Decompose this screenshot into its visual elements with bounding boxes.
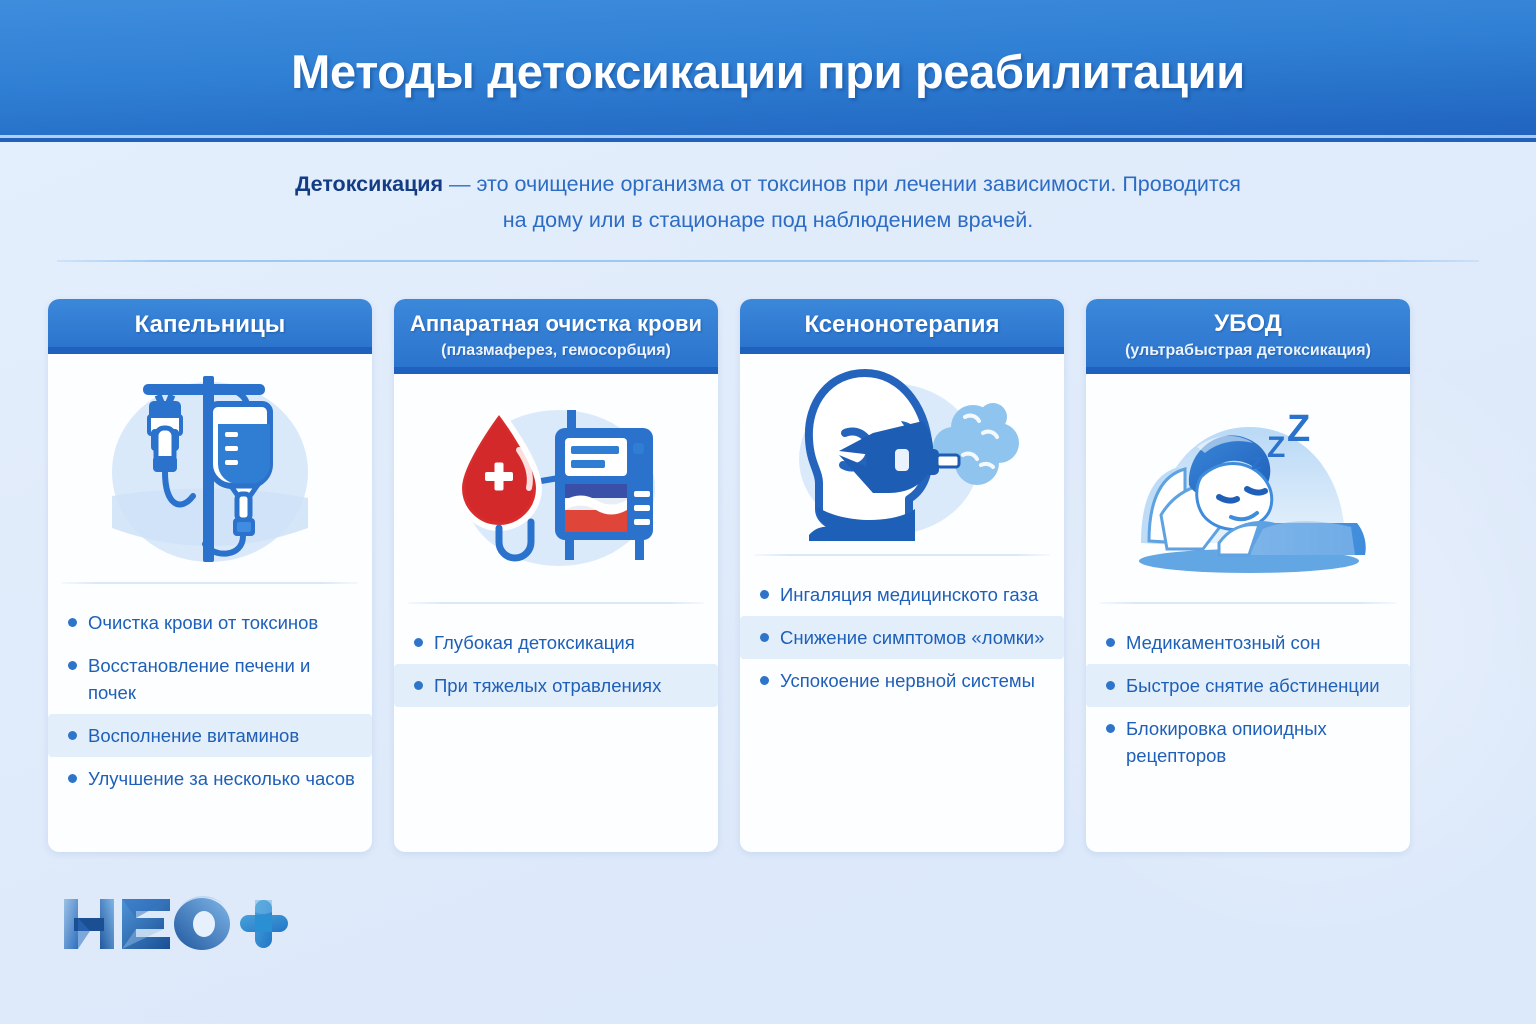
bullet-dot-icon: [68, 661, 77, 670]
section-divider: [57, 260, 1479, 262]
card-xenon-therapy[interactable]: Ксенонотерапия: [740, 299, 1064, 852]
card-header: УБОД (ультрабыстрая детоксикация): [1086, 299, 1410, 374]
card-header: Аппаратная очистка крови (плазмаферез, г…: [394, 299, 718, 374]
iv-drip-icon: [85, 368, 335, 568]
bullet-dot-icon: [760, 633, 769, 642]
bullet-dot-icon: [1106, 681, 1115, 690]
list-item-highlighted: При тяжелых отравлениях: [394, 664, 718, 707]
card-ubod-ultrarapid-detox[interactable]: УБОД (ультрабыстрая детоксикация): [1086, 299, 1410, 852]
list-item: Очистка крови от токсинов: [48, 601, 372, 644]
list-item-label: Успокоение нервной системы: [780, 667, 1050, 694]
list-item-label: Улучшение за несколько часов: [88, 765, 358, 792]
intro-text-line1: — это очищение организма от токсинов при…: [443, 172, 1241, 196]
page-header-banner: Методы детоксикации при реабилитации: [0, 0, 1536, 142]
card-title: Аппаратная очистка крови: [404, 309, 708, 339]
list-item: Медикаментозный сон: [1086, 621, 1410, 664]
card-benefit-list: Глубокая детоксикация При тяжелых отравл…: [394, 604, 718, 852]
list-item-label: Восстановление печени и почек: [88, 652, 358, 706]
list-item-label: Очистка крови от токсинов: [88, 609, 358, 636]
card-header: Капельницы: [48, 299, 372, 354]
svg-text:Z: Z: [1287, 408, 1310, 450]
list-item-highlighted: Восполнение витаминов: [48, 714, 372, 757]
card-icon-area: [48, 354, 372, 582]
logo-letter-n: [64, 899, 114, 949]
list-item-label: Ингаляция медицинското газа: [780, 581, 1050, 608]
list-item-highlighted: Снижение симптомов «ломки»: [740, 616, 1064, 659]
card-title: Капельницы: [58, 310, 362, 340]
bullet-dot-icon: [414, 681, 423, 690]
list-item: Восстановление печени и почек: [48, 644, 372, 714]
card-icon-area: z Z Z: [1086, 374, 1410, 602]
list-item-highlighted: Быстрое снятие абстиненции: [1086, 664, 1410, 707]
method-cards-row: Капельницы: [48, 299, 1488, 852]
bullet-dot-icon: [1106, 724, 1115, 733]
intro-lead-word: Детоксикация: [295, 172, 443, 196]
bullet-dot-icon: [760, 590, 769, 599]
sleeping-patient-icon: z Z Z: [1123, 393, 1373, 583]
list-item: Успокоение нервной системы: [740, 659, 1064, 702]
bullet-dot-icon: [760, 676, 769, 685]
brand-logo: [60, 893, 290, 955]
card-benefit-list: Ингаляция медицинското газа Снижение сим…: [740, 556, 1064, 852]
list-item-label: Глубокая детоксикация: [434, 629, 704, 656]
list-item-label: Быстрое снятие абстиненции: [1126, 672, 1396, 699]
card-hardware-blood-purification[interactable]: Аппаратная очистка крови (плазмаферез, г…: [394, 299, 718, 852]
card-benefit-list: Медикаментозный сон Быстрое снятие абсти…: [1086, 604, 1410, 852]
card-subtitle: (ультрабыстрая детоксикация): [1096, 340, 1400, 362]
intro-text-line2: на дому или в стационаре под наблюдением…: [503, 208, 1033, 232]
bullet-dot-icon: [68, 618, 77, 627]
page-title: Методы детоксикации при реабилитации: [0, 44, 1536, 99]
bullet-dot-icon: [68, 731, 77, 740]
list-item-label: Снижение симптомов «ломки»: [780, 624, 1050, 651]
card-drip-infusion[interactable]: Капельницы: [48, 299, 372, 852]
list-item: Улучшение за несколько часов: [48, 757, 372, 800]
bullet-dot-icon: [68, 774, 77, 783]
inhalation-mask-head-icon: [777, 359, 1027, 549]
card-icon-area: [740, 354, 1064, 554]
list-item-label: При тяжелых отравлениях: [434, 672, 704, 699]
neo-plus-logo-icon: [60, 893, 290, 955]
list-item-label: Блокировка опиоидных рецепторов: [1126, 715, 1396, 769]
card-subtitle: (плазмаферез, гемосорбция): [404, 340, 708, 362]
logo-letter-o: [174, 896, 230, 953]
svg-text:Z: Z: [1267, 431, 1285, 464]
card-benefit-list: Очистка крови от токсинов Восстановление…: [48, 584, 372, 852]
list-item: Глубокая детоксикация: [394, 621, 718, 664]
blood-purification-machine-icon: [431, 388, 681, 588]
card-header: Ксенонотерапия: [740, 299, 1064, 354]
bullet-dot-icon: [414, 638, 423, 647]
list-item-label: Восполнение витаминов: [88, 722, 358, 749]
list-item-label: Медикаментозный сон: [1126, 629, 1396, 656]
bullet-dot-icon: [1106, 638, 1115, 647]
card-title: УБОД: [1096, 309, 1400, 339]
logo-letter-e: [122, 899, 170, 949]
list-item: Ингаляция медицинското газа: [740, 573, 1064, 616]
card-title: Ксенонотерапия: [750, 310, 1054, 340]
intro-paragraph: Детоксикация — это очищение организма от…: [168, 166, 1368, 238]
list-item: Блокировка опиоидных рецепторов: [1086, 707, 1410, 777]
card-icon-area: [394, 374, 718, 602]
logo-plus-icon: [240, 900, 288, 948]
svg-text:z: z: [1251, 449, 1262, 474]
